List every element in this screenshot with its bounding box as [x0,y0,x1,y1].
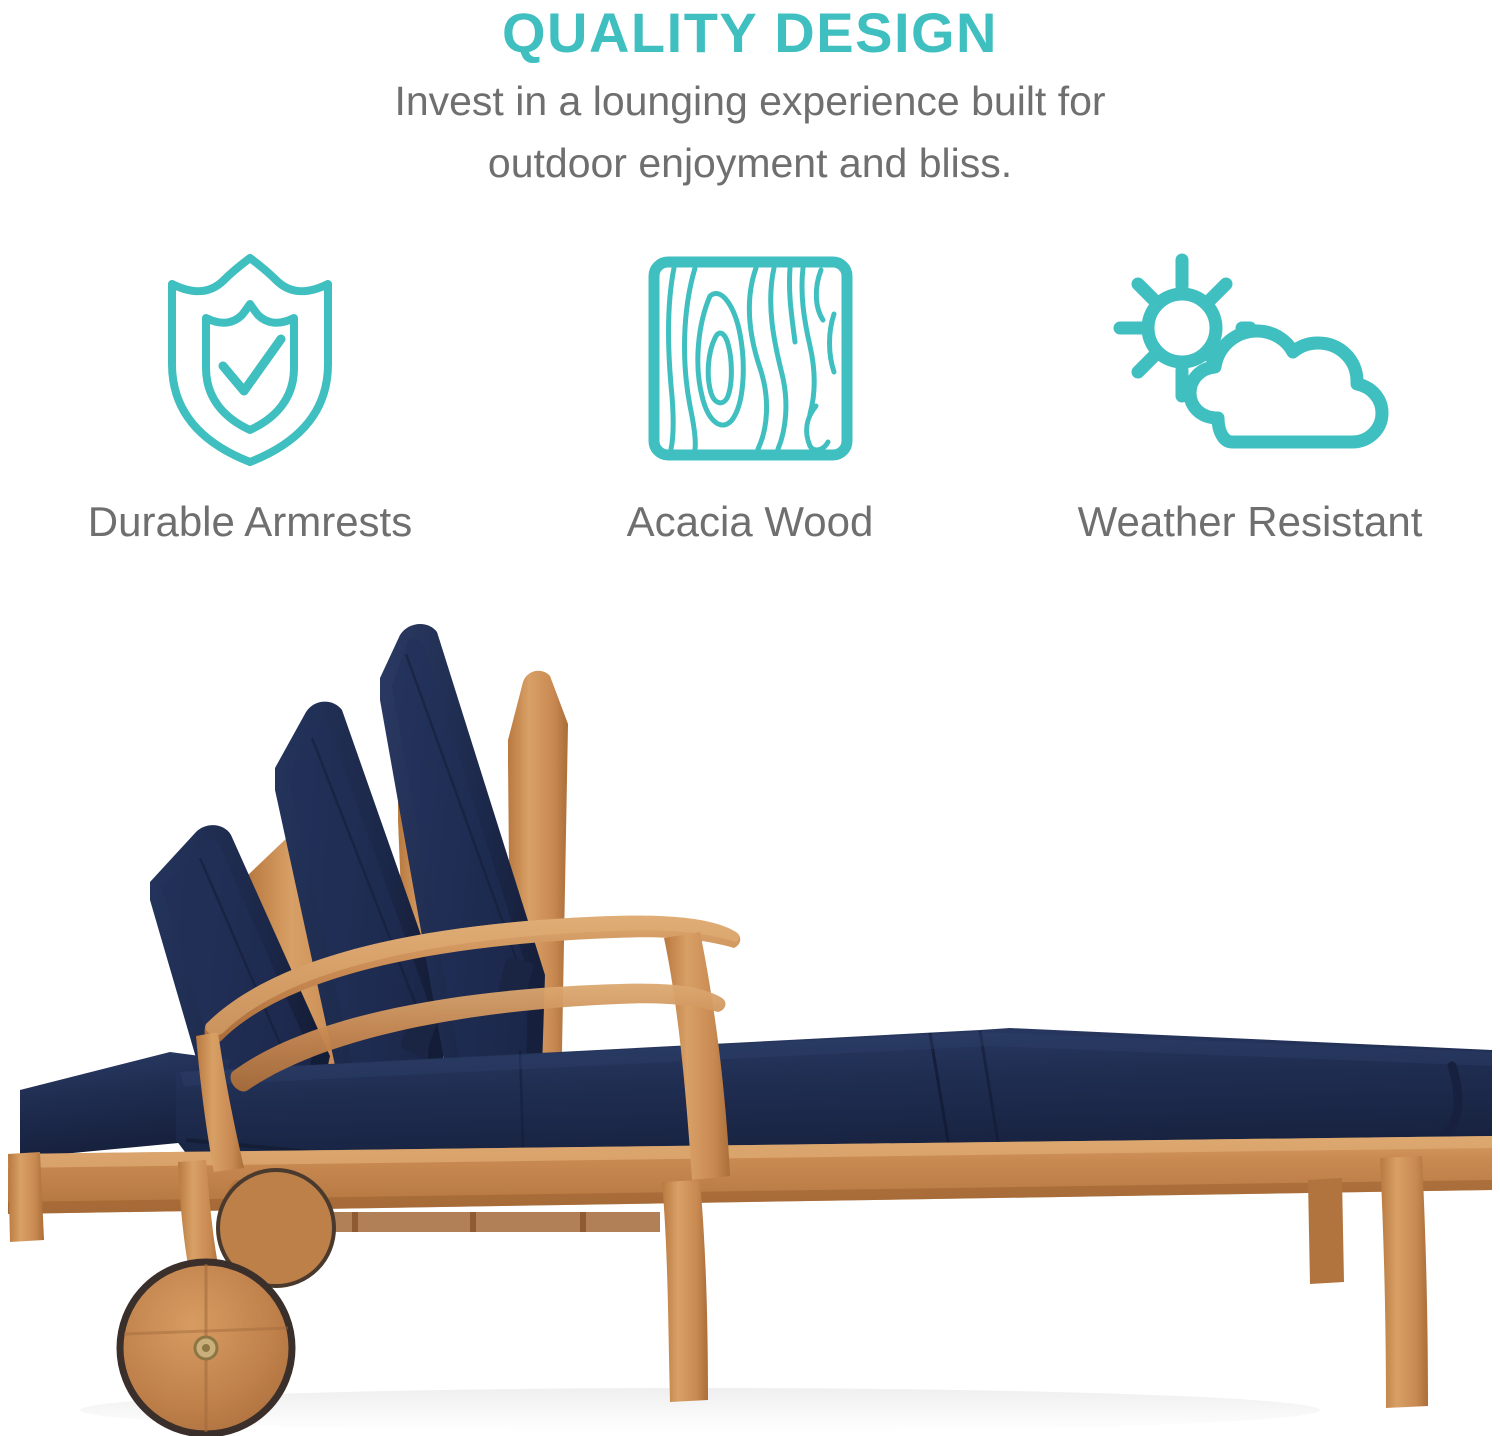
feature-label-weather-resistant: Weather Resistant [1078,497,1423,547]
feature-item-durable-armrests: Durable Armrests [0,246,500,547]
page-title: QUALITY DESIGN [0,0,1500,64]
feature-list: Durable Armrests [0,246,1500,547]
feature-label-durable-armrests: Durable Armrests [88,497,412,547]
frame-under-slats [330,1212,660,1232]
sun-cloud-icon [1100,246,1400,471]
product-image-chaise-lounge [0,620,1500,1436]
product-feature-graphic: QUALITY DESIGN Invest in a lounging expe… [0,0,1500,1436]
feature-item-weather-resistant: Weather Resistant [1000,246,1500,547]
header: QUALITY DESIGN Invest in a lounging expe… [0,0,1500,194]
wood-grain-icon [638,246,863,471]
feature-item-acacia-wood: Acacia Wood [500,246,1000,547]
subtitle: Invest in a lounging experience built fo… [250,70,1250,194]
frame-head-end [8,1152,44,1242]
feature-label-acacia-wood: Acacia Wood [627,497,874,547]
subtitle-line-1: Invest in a lounging experience built fo… [250,70,1250,132]
shield-check-icon [150,246,350,471]
subtitle-line-2: outdoor enjoyment and bliss. [250,132,1250,194]
